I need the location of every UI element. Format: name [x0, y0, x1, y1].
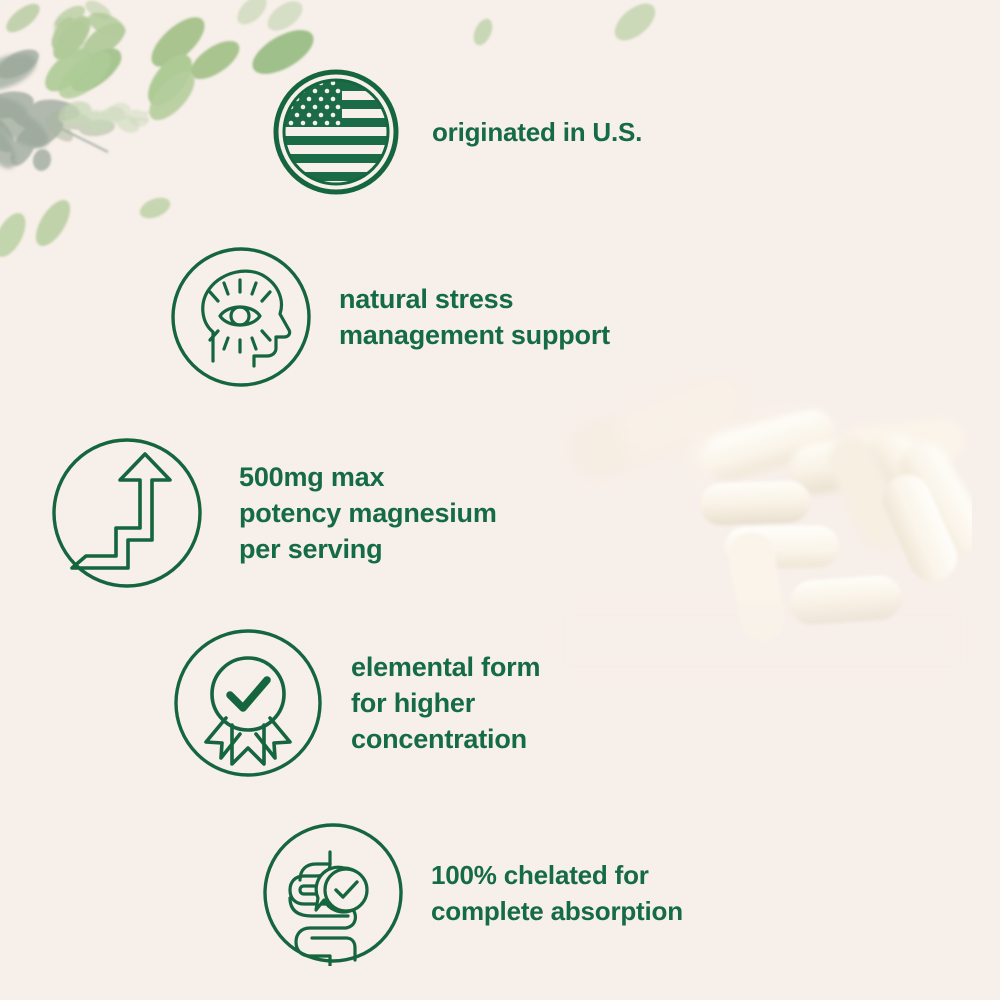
upward-step-arrow-icon — [48, 434, 206, 592]
leaf-group-mid-left — [38, 41, 119, 107]
feature-row-stress: natural stress management support — [168, 244, 610, 390]
product-benefits-infographic: originated in U.S. — [0, 0, 1000, 1000]
us-flag-circle-icon — [272, 68, 400, 196]
feature-row-elemental: elemental form for higher concentration — [170, 625, 540, 781]
feature-label-stress: natural stress management support — [339, 281, 610, 353]
award-ribbon-check-icon — [170, 625, 326, 781]
feature-label-origin: originated in U.S. — [432, 114, 642, 150]
leaf-group-eucalyptus-sprig — [58, 99, 152, 133]
leaf-group-lower-left — [0, 194, 173, 262]
feature-label-elemental: elemental form for higher concentration — [351, 649, 540, 757]
head-mind-eye-icon — [168, 244, 314, 390]
feature-row-potency: 500mg max potency magnesium per serving — [48, 434, 497, 592]
feature-row-origin: originated in U.S. — [272, 68, 642, 196]
feature-label-potency: 500mg max potency magnesium per serving — [239, 459, 497, 567]
feature-label-absorption: 100% chelated for complete absorption — [431, 857, 683, 929]
feature-row-absorption: 100% chelated for complete absorption — [260, 820, 683, 966]
white-magnesium-capsules-photo — [552, 378, 972, 678]
intestine-check-icon — [260, 820, 406, 966]
leaf-group-sage-blob — [0, 46, 55, 174]
